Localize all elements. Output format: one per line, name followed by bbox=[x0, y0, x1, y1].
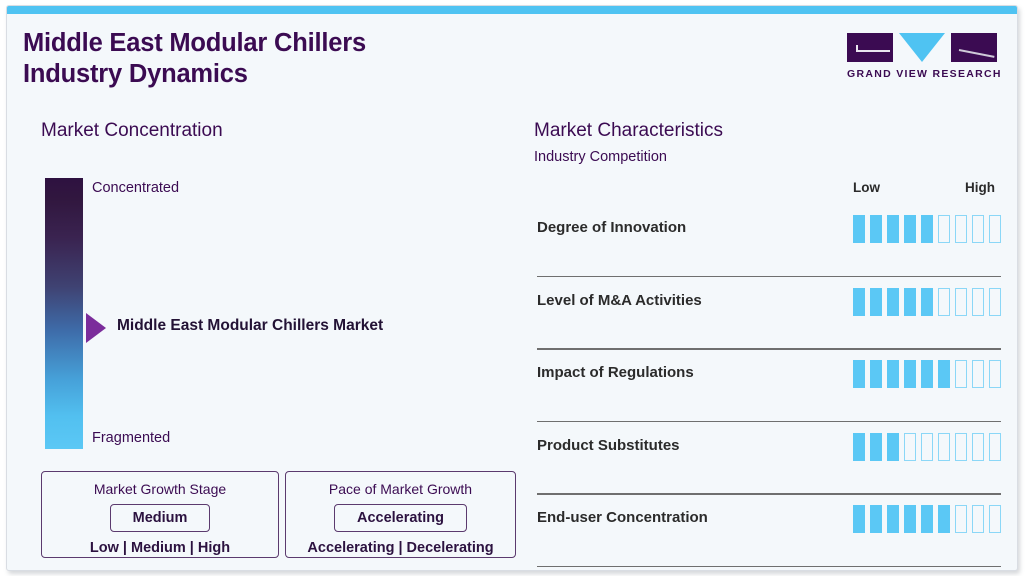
logo-right-diagonal-stroke bbox=[959, 49, 995, 58]
rating-tick-empty bbox=[972, 215, 984, 243]
rating-tick-filled bbox=[904, 288, 916, 316]
characteristic-label: Product Substitutes bbox=[537, 437, 680, 454]
brand-logo: GRAND VIEW RESEARCH bbox=[847, 33, 997, 80]
rating-tick-empty bbox=[955, 433, 967, 461]
rating-tick-filled bbox=[853, 288, 865, 316]
rating-tick-filled bbox=[921, 505, 933, 533]
rating-tick-filled bbox=[921, 288, 933, 316]
rating-tick-filled bbox=[887, 288, 899, 316]
infographic-page: Middle East Modular Chillers Industry Dy… bbox=[0, 0, 1025, 576]
characteristic-rating-ticks bbox=[853, 288, 1001, 316]
market-growth-stage-scale: Low | Medium | High bbox=[42, 540, 278, 556]
characteristic-label: End-user Concentration bbox=[537, 509, 708, 526]
characteristic-label: Impact of Regulations bbox=[537, 364, 694, 381]
rating-tick-filled bbox=[938, 360, 950, 388]
rating-tick-empty bbox=[972, 360, 984, 388]
top-accent-bar bbox=[7, 6, 1017, 14]
rating-tick-filled bbox=[938, 505, 950, 533]
rating-tick-filled bbox=[870, 288, 882, 316]
characteristic-row: End-user Concentration bbox=[537, 495, 1001, 567]
logo-right-box-icon bbox=[951, 33, 997, 62]
characteristic-row: Product Substitutes bbox=[537, 423, 1001, 495]
market-growth-stage-title: Market Growth Stage bbox=[42, 481, 278, 497]
characteristic-label: Level of M&A Activities bbox=[537, 292, 702, 309]
rating-tick-empty bbox=[955, 360, 967, 388]
rating-tick-filled bbox=[904, 360, 916, 388]
rating-tick-empty bbox=[938, 288, 950, 316]
rating-tick-empty bbox=[938, 433, 950, 461]
rating-tick-filled bbox=[853, 505, 865, 533]
characteristic-row: Level of M&A Activities bbox=[537, 278, 1001, 350]
rating-tick-empty bbox=[955, 288, 967, 316]
characteristic-row: Degree of Innovation bbox=[537, 205, 1001, 277]
scale-low-label: Low bbox=[853, 180, 880, 195]
rating-tick-filled bbox=[887, 360, 899, 388]
pace-of-market-growth-title: Pace of Market Growth bbox=[286, 481, 515, 497]
rating-tick-filled bbox=[870, 360, 882, 388]
concentration-gradient-bar bbox=[45, 178, 83, 449]
rating-tick-empty bbox=[972, 288, 984, 316]
concentration-top-label: Concentrated bbox=[92, 180, 179, 196]
logo-marks bbox=[847, 33, 997, 63]
rating-tick-filled bbox=[904, 215, 916, 243]
row-divider bbox=[537, 566, 1001, 568]
characteristic-rating-ticks bbox=[853, 433, 1001, 461]
rating-tick-filled bbox=[870, 433, 882, 461]
rating-tick-filled bbox=[921, 215, 933, 243]
rating-tick-filled bbox=[887, 433, 899, 461]
infographic-card: Middle East Modular Chillers Industry Dy… bbox=[6, 5, 1018, 571]
rating-tick-filled bbox=[904, 505, 916, 533]
characteristic-row: Impact of Regulations bbox=[537, 350, 1001, 422]
rating-tick-filled bbox=[853, 433, 865, 461]
concentration-bottom-label: Fragmented bbox=[92, 430, 170, 446]
rating-tick-filled bbox=[921, 360, 933, 388]
market-position-label: Middle East Modular Chillers Market bbox=[117, 317, 383, 335]
logo-triangle-icon bbox=[899, 33, 945, 62]
rating-tick-filled bbox=[870, 505, 882, 533]
rating-tick-filled bbox=[887, 215, 899, 243]
rating-tick-filled bbox=[853, 215, 865, 243]
characteristic-rating-ticks bbox=[853, 215, 1001, 243]
market-growth-stage-value: Medium bbox=[110, 504, 211, 532]
rating-tick-empty bbox=[989, 433, 1001, 461]
characteristic-rating-ticks bbox=[853, 505, 1001, 533]
scale-high-label: High bbox=[965, 180, 995, 195]
page-title: Middle East Modular Chillers Industry Dy… bbox=[23, 28, 366, 90]
rating-tick-empty bbox=[989, 288, 1001, 316]
rating-tick-filled bbox=[870, 215, 882, 243]
market-position-marker-icon bbox=[86, 313, 106, 343]
pace-of-market-growth-value: Accelerating bbox=[334, 504, 467, 532]
rating-tick-empty bbox=[972, 433, 984, 461]
market-concentration-heading: Market Concentration bbox=[41, 120, 223, 142]
pace-of-market-growth-box: Pace of Market Growth Accelerating Accel… bbox=[285, 471, 516, 558]
rating-tick-empty bbox=[972, 505, 984, 533]
logo-wordmark: GRAND VIEW RESEARCH bbox=[847, 68, 997, 80]
rating-tick-empty bbox=[955, 505, 967, 533]
rating-tick-empty bbox=[989, 360, 1001, 388]
rating-tick-empty bbox=[938, 215, 950, 243]
characteristic-rating-ticks bbox=[853, 360, 1001, 388]
rating-tick-empty bbox=[904, 433, 916, 461]
rating-tick-filled bbox=[887, 505, 899, 533]
characteristic-label: Degree of Innovation bbox=[537, 219, 686, 236]
rating-tick-empty bbox=[989, 215, 1001, 243]
rating-tick-empty bbox=[921, 433, 933, 461]
rating-tick-empty bbox=[955, 215, 967, 243]
pace-of-market-growth-scale: Accelerating | Decelerating bbox=[286, 540, 515, 556]
logo-left-box-icon bbox=[847, 33, 893, 62]
rating-tick-empty bbox=[989, 505, 1001, 533]
market-characteristics-heading: Market Characteristics bbox=[534, 120, 723, 142]
logo-left-horizontal-stroke bbox=[856, 50, 890, 52]
market-characteristics-subheading: Industry Competition bbox=[534, 149, 667, 165]
rating-tick-filled bbox=[853, 360, 865, 388]
market-growth-stage-box: Market Growth Stage Medium Low | Medium … bbox=[41, 471, 279, 558]
